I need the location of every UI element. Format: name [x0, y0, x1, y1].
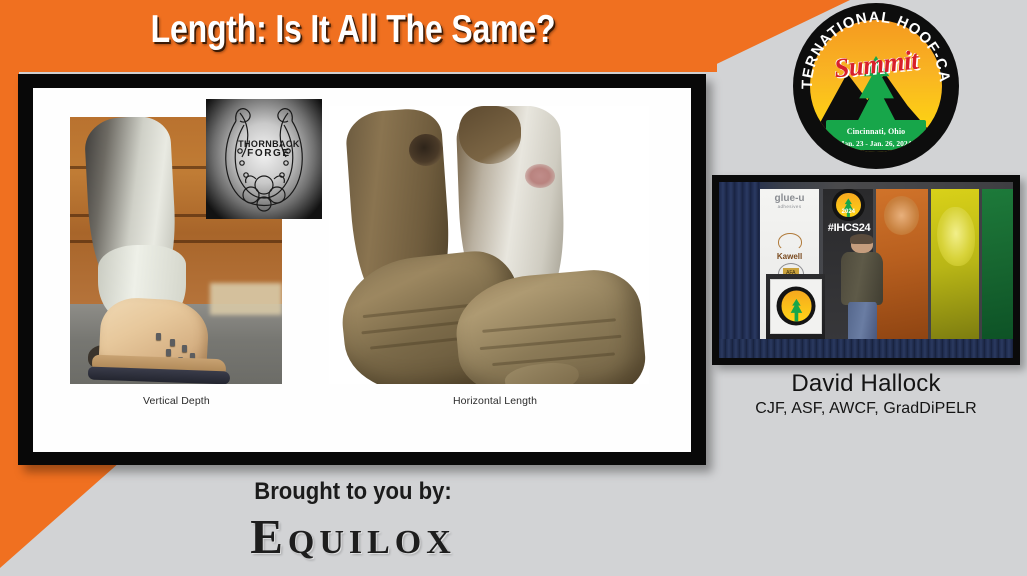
kawell-label: Kawell [777, 252, 802, 261]
banner-year: 2024 [832, 209, 864, 215]
growth-ring [482, 318, 616, 333]
clinch-nail [182, 345, 187, 352]
sponsor-intro: Brought to you by: [28, 478, 678, 506]
podium-tree-icon [789, 299, 804, 322]
caption-horizontal-length: Horizontal Length [453, 395, 537, 407]
stage-curtain [719, 182, 760, 358]
podium-summit-logo-icon [777, 287, 816, 326]
banner-green [982, 189, 1013, 340]
speaker-figure [840, 235, 887, 344]
forge-line-2: FORGE [238, 149, 300, 160]
glueu-label: glue-u [775, 193, 805, 204]
limb-dark-patch [459, 106, 521, 164]
speaker-photo-panel: glue-u adhesives Kawell AFA 2024 #IHCS24 [712, 175, 1020, 365]
speaker-torso [841, 252, 882, 304]
forge-wordmark: THORNBACK FORGE [238, 140, 300, 160]
banner-summit-logo-icon [832, 189, 864, 221]
comparison-photos: THORNBACK FORGE [33, 88, 691, 452]
barn-shavings [210, 283, 282, 315]
banner-glueu-text: glue-u adhesives [762, 193, 818, 209]
kawell-hoof-icon [778, 233, 802, 251]
speaker-hair [850, 234, 874, 244]
hoof-horizontal-length-photo [329, 106, 649, 384]
chestnut-callus [408, 133, 444, 167]
page-title: Length: Is It All The Same? [64, 8, 643, 52]
sponsor-brand: Equilox [0, 508, 706, 565]
stage-floor [719, 339, 1013, 358]
speaker-name: David Hallock [712, 370, 1020, 398]
hoof-care-summit-logo: Cincinnati, Ohio Jan. 23 - Jan. 26, 2024… [795, 5, 957, 167]
podium-logo-inner [781, 291, 811, 321]
slide-content: THORNBACK FORGE [33, 88, 691, 452]
growth-ring [480, 335, 621, 350]
skin-lesion [525, 164, 555, 188]
clinch-nail [156, 333, 161, 340]
speaker-stage-photo: glue-u adhesives Kawell AFA 2024 #IHCS24 [719, 182, 1013, 358]
logo-arc-text: INTERNATIONAL HOOF-CARE [795, 5, 957, 167]
slide-canvas: Length: Is It All The Same? [0, 0, 1027, 576]
clinch-nail [166, 349, 171, 356]
thornback-forge-logo: THORNBACK FORGE [206, 99, 322, 219]
speaker-credentials: CJF, ASF, AWCF, GradDiPELR [712, 400, 1020, 418]
clinch-nail [170, 339, 175, 346]
banner-hashtag-text: #IHCS24 [825, 222, 874, 234]
orange-left-strip [0, 60, 19, 480]
caption-vertical-depth: Vertical Depth [143, 395, 210, 407]
glueu-sublabel: adhesives [762, 204, 818, 209]
banner-orange-image [884, 196, 919, 235]
slide-frame: THORNBACK FORGE [18, 74, 706, 465]
podium-sign [770, 279, 822, 334]
banner-kawell-text: Kawell [762, 233, 818, 261]
